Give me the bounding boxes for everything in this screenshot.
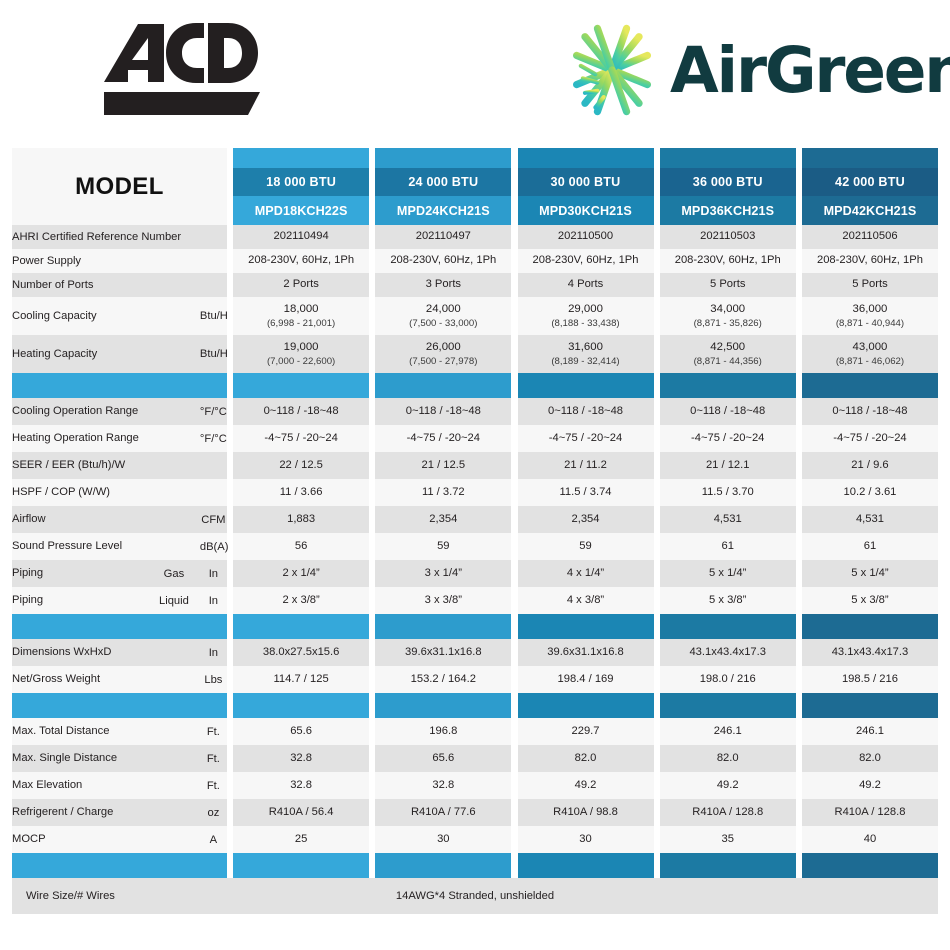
cell-16-2: 198.4 / 169 bbox=[518, 666, 654, 693]
cell-12-2: 4 x 1/4” bbox=[518, 560, 654, 587]
row-label: Piping bbox=[12, 560, 148, 587]
divider-bar-3 bbox=[660, 373, 796, 398]
cell-2-3: 5 Ports bbox=[660, 273, 796, 297]
cell-1-2: 208-230V, 60Hz, 1Ph bbox=[518, 249, 654, 273]
table-row: Cooling Operation Range°F/°C0~118 / -18~… bbox=[12, 398, 938, 425]
header-btu-1: 24 000 BTU bbox=[375, 168, 511, 196]
row-unit: dB(A) bbox=[200, 533, 227, 560]
divider-bar-0 bbox=[233, 853, 369, 878]
row-label: AHRI Certified Reference Number bbox=[12, 225, 200, 249]
row-unit: Ft. bbox=[200, 718, 227, 745]
cell-15-4: 43.1x43.4x17.3 bbox=[802, 639, 938, 666]
table-row: Dimensions WxHxDIn38.0x27.5x15.639.6x31.… bbox=[12, 639, 938, 666]
spec-table-body: MODEL18 000 BTUMPD18KCH22S24 000 BTUMPD2… bbox=[12, 148, 938, 878]
row-unit: °F/°C bbox=[200, 425, 227, 452]
header-btu-2: 30 000 BTU bbox=[518, 168, 654, 196]
cell-11-2: 59 bbox=[518, 533, 654, 560]
cell-10-2: 2,354 bbox=[518, 506, 654, 533]
row-label: Heating Capacity bbox=[12, 335, 200, 373]
cell-4-2: 31,600(8,189 - 32,414) bbox=[518, 335, 654, 373]
row-label: Cooling Operation Range bbox=[12, 398, 200, 425]
row-label: Net/Gross Weight bbox=[12, 666, 200, 693]
cell-9-0: 11 / 3.66 bbox=[233, 479, 369, 506]
cell-6-0: 0~118 / -18~48 bbox=[233, 398, 369, 425]
cell-8-4: 21 / 9.6 bbox=[802, 452, 938, 479]
cell-12-4: 5 x 1/4” bbox=[802, 560, 938, 587]
row-unit bbox=[200, 249, 227, 273]
cell-12-1: 3 x 1/4” bbox=[375, 560, 511, 587]
table-row: Max. Single DistanceFt.32.865.682.082.08… bbox=[12, 745, 938, 772]
airgreen-wordmark: AirGreen bbox=[670, 39, 950, 102]
divider-bar-4 bbox=[802, 853, 938, 878]
table-row: SEER / EER (Btu/h)/W22 / 12.521 / 12.521… bbox=[12, 452, 938, 479]
divider-bar-4 bbox=[802, 373, 938, 398]
table-row: Net/Gross WeightLbs114.7 / 125153.2 / 16… bbox=[12, 666, 938, 693]
cell-1-1: 208-230V, 60Hz, 1Ph bbox=[375, 249, 511, 273]
airgreen-logo: AirGreen bbox=[560, 18, 950, 122]
divider-bar-1 bbox=[375, 373, 511, 398]
cell-2-4: 5 Ports bbox=[802, 273, 938, 297]
row-unit bbox=[200, 479, 227, 506]
divider-unit-bar bbox=[200, 693, 227, 718]
cell-22-2: 30 bbox=[518, 826, 654, 853]
cell-range-value: (7,000 - 22,600) bbox=[233, 356, 369, 368]
row-label: Piping bbox=[12, 587, 148, 614]
row-unit: Btu/H bbox=[200, 297, 227, 335]
divider-bar-2 bbox=[518, 853, 654, 878]
cell-9-1: 11 / 3.72 bbox=[375, 479, 511, 506]
cell-main-value: 18,000 bbox=[233, 303, 369, 317]
cell-8-3: 21 / 12.1 bbox=[660, 452, 796, 479]
table-row: MOCPA2530303540 bbox=[12, 826, 938, 853]
cell-8-0: 22 / 12.5 bbox=[233, 452, 369, 479]
cell-main-value: 31,600 bbox=[518, 341, 654, 355]
wire-size-value: 14AWG*4 Stranded, unshielded bbox=[12, 878, 938, 914]
cell-11-4: 61 bbox=[802, 533, 938, 560]
cell-2-0: 2 Ports bbox=[233, 273, 369, 297]
cell-3-4: 36,000(8,871 - 40,944) bbox=[802, 297, 938, 335]
divider-bar-0 bbox=[233, 614, 369, 639]
divider-bar-3 bbox=[660, 614, 796, 639]
cell-main-value: 19,000 bbox=[233, 341, 369, 355]
cell-21-3: R410A / 128.8 bbox=[660, 799, 796, 826]
row-unit: Btu/H bbox=[200, 335, 227, 373]
cell-main-value: 29,000 bbox=[518, 303, 654, 317]
divider-bar-0 bbox=[233, 373, 369, 398]
cell-20-4: 49.2 bbox=[802, 772, 938, 799]
table-row: AHRI Certified Reference Number202110494… bbox=[12, 225, 938, 249]
cell-18-1: 196.8 bbox=[375, 718, 511, 745]
cell-range-value: (8,871 - 35,826) bbox=[660, 318, 796, 330]
cell-9-4: 10.2 / 3.61 bbox=[802, 479, 938, 506]
divider-unit-bar bbox=[200, 853, 227, 878]
cell-2-1: 3 Ports bbox=[375, 273, 511, 297]
row-unit: Ft. bbox=[200, 745, 227, 772]
section-divider-row bbox=[12, 614, 938, 639]
cell-12-0: 2 x 1/4” bbox=[233, 560, 369, 587]
cell-15-0: 38.0x27.5x15.6 bbox=[233, 639, 369, 666]
cell-6-2: 0~118 / -18~48 bbox=[518, 398, 654, 425]
header-btu-4: 42 000 BTU bbox=[802, 168, 938, 196]
header-top-strip-1 bbox=[375, 148, 511, 168]
row-label: Max. Single Distance bbox=[12, 745, 200, 772]
cell-9-3: 11.5 / 3.70 bbox=[660, 479, 796, 506]
cell-0-0: 202110494 bbox=[233, 225, 369, 249]
logo-bar: AirGreen bbox=[0, 0, 950, 140]
header-btu-0: 18 000 BTU bbox=[233, 168, 369, 196]
cell-7-0: -4~75 / -20~24 bbox=[233, 425, 369, 452]
divider-bar-2 bbox=[518, 693, 654, 718]
divider-unit-bar bbox=[200, 373, 227, 398]
table-row: PipingLiquidIn2 x 3/8”3 x 3/8”4 x 3/8”5 … bbox=[12, 587, 938, 614]
cell-0-1: 202110497 bbox=[375, 225, 511, 249]
cell-15-1: 39.6x31.1x16.8 bbox=[375, 639, 511, 666]
cell-main-value: 43,000 bbox=[802, 341, 938, 355]
cell-22-1: 30 bbox=[375, 826, 511, 853]
table-row: Refrigerent / ChargeozR410A / 56.4R410A … bbox=[12, 799, 938, 826]
header-model-1: MPD24KCH21S bbox=[375, 196, 511, 225]
cell-range-value: (6,998 - 21,001) bbox=[233, 318, 369, 330]
cell-3-3: 34,000(8,871 - 35,826) bbox=[660, 297, 796, 335]
cell-8-1: 21 / 12.5 bbox=[375, 452, 511, 479]
model-column-header-2[interactable]: 30 000 BTUMPD30KCH21S bbox=[518, 148, 654, 225]
cell-3-1: 24,000(7,500 - 33,000) bbox=[375, 297, 511, 335]
table-row: Number of Ports2 Ports3 Ports4 Ports5 Po… bbox=[12, 273, 938, 297]
cell-7-4: -4~75 / -20~24 bbox=[802, 425, 938, 452]
row-sublabel: Gas bbox=[148, 560, 200, 587]
row-unit: A bbox=[200, 826, 227, 853]
cell-18-3: 246.1 bbox=[660, 718, 796, 745]
header-top-strip-4 bbox=[802, 148, 938, 168]
cell-main-value: 26,000 bbox=[375, 341, 511, 355]
cell-19-4: 82.0 bbox=[802, 745, 938, 772]
cell-11-3: 61 bbox=[660, 533, 796, 560]
cell-22-4: 40 bbox=[802, 826, 938, 853]
header-top-strip-0 bbox=[233, 148, 369, 168]
cell-range-value: (7,500 - 33,000) bbox=[375, 318, 511, 330]
row-label: Power Supply bbox=[12, 249, 200, 273]
cell-13-0: 2 x 3/8” bbox=[233, 587, 369, 614]
table-row: Max. Total DistanceFt.65.6196.8229.7246.… bbox=[12, 718, 938, 745]
row-label: Heating Operation Range bbox=[12, 425, 200, 452]
cell-4-3: 42,500(8,871 - 44,356) bbox=[660, 335, 796, 373]
row-label: Cooling Capacity bbox=[12, 297, 200, 335]
cell-11-1: 59 bbox=[375, 533, 511, 560]
table-row: Power Supply208-230V, 60Hz, 1Ph208-230V,… bbox=[12, 249, 938, 273]
row-unit: In bbox=[200, 560, 227, 587]
model-column-header-3[interactable]: 36 000 BTUMPD36KCH21S bbox=[660, 148, 796, 225]
cell-6-3: 0~118 / -18~48 bbox=[660, 398, 796, 425]
model-column-header-4[interactable]: 42 000 BTUMPD42KCH21S bbox=[802, 148, 938, 225]
header-model-0: MPD18KCH22S bbox=[233, 196, 369, 225]
cell-7-1: -4~75 / -20~24 bbox=[375, 425, 511, 452]
row-label: Max. Total Distance bbox=[12, 718, 200, 745]
table-row: Heating Operation Range°F/°C-4~75 / -20~… bbox=[12, 425, 938, 452]
cell-3-0: 18,000(6,998 - 21,001) bbox=[233, 297, 369, 335]
cell-20-3: 49.2 bbox=[660, 772, 796, 799]
cell-10-1: 2,354 bbox=[375, 506, 511, 533]
cell-22-0: 25 bbox=[233, 826, 369, 853]
cell-0-3: 202110503 bbox=[660, 225, 796, 249]
divider-bar-2 bbox=[518, 614, 654, 639]
row-unit bbox=[200, 273, 227, 297]
divider-bar-1 bbox=[375, 853, 511, 878]
cell-13-4: 5 x 3/8” bbox=[802, 587, 938, 614]
spec-sheet-page: AirGreen MODEL18 000 BTUMPD18KCH22S24 00… bbox=[0, 0, 950, 950]
cell-range-value: (8,871 - 40,944) bbox=[802, 318, 938, 330]
table-header-row: MODEL18 000 BTUMPD18KCH22S24 000 BTUMPD2… bbox=[12, 148, 938, 225]
row-unit: Ft. bbox=[200, 772, 227, 799]
cell-19-0: 32.8 bbox=[233, 745, 369, 772]
row-unit: Lbs bbox=[200, 666, 227, 693]
row-unit bbox=[200, 452, 227, 479]
table-row: Heating CapacityBtu/H19,000(7,000 - 22,6… bbox=[12, 335, 938, 373]
divider-label-bar bbox=[12, 373, 200, 398]
cell-10-4: 4,531 bbox=[802, 506, 938, 533]
cell-18-0: 65.6 bbox=[233, 718, 369, 745]
cell-10-3: 4,531 bbox=[660, 506, 796, 533]
cell-16-1: 153.2 / 164.2 bbox=[375, 666, 511, 693]
cell-4-4: 43,000(8,871 - 46,062) bbox=[802, 335, 938, 373]
cell-15-3: 43.1x43.4x17.3 bbox=[660, 639, 796, 666]
row-sublabel: Liquid bbox=[148, 587, 200, 614]
cell-range-value: (8,188 - 33,438) bbox=[518, 318, 654, 330]
row-unit: °F/°C bbox=[200, 398, 227, 425]
cell-0-4: 202110506 bbox=[802, 225, 938, 249]
divider-bar-3 bbox=[660, 693, 796, 718]
cell-4-0: 19,000(7,000 - 22,600) bbox=[233, 335, 369, 373]
cell-18-2: 229.7 bbox=[518, 718, 654, 745]
cell-20-2: 49.2 bbox=[518, 772, 654, 799]
cell-6-1: 0~118 / -18~48 bbox=[375, 398, 511, 425]
divider-bar-1 bbox=[375, 693, 511, 718]
cell-15-2: 39.6x31.1x16.8 bbox=[518, 639, 654, 666]
cell-range-value: (7,500 - 27,978) bbox=[375, 356, 511, 368]
divider-bar-4 bbox=[802, 614, 938, 639]
row-label: Max Elevation bbox=[12, 772, 200, 799]
header-btu-3: 36 000 BTU bbox=[660, 168, 796, 196]
acd-logo bbox=[92, 20, 272, 120]
divider-bar-4 bbox=[802, 693, 938, 718]
table-row: AirflowCFM1,8832,3542,3544,5314,531 bbox=[12, 506, 938, 533]
section-divider-row bbox=[12, 693, 938, 718]
divider-bar-2 bbox=[518, 373, 654, 398]
header-top-strip-3 bbox=[660, 148, 796, 168]
cell-range-value: (8,871 - 44,356) bbox=[660, 356, 796, 368]
header-top-strip-2 bbox=[518, 148, 654, 168]
cell-19-3: 82.0 bbox=[660, 745, 796, 772]
wire-size-row: Wire Size/# Wires 14AWG*4 Stranded, unsh… bbox=[12, 878, 938, 914]
cell-range-value: (8,871 - 46,062) bbox=[802, 356, 938, 368]
row-unit: In bbox=[200, 639, 227, 666]
cell-13-3: 5 x 3/8” bbox=[660, 587, 796, 614]
model-header-cell: MODEL bbox=[12, 148, 227, 225]
cell-20-0: 32.8 bbox=[233, 772, 369, 799]
table-row: Sound Pressure LeveldB(A)5659596161 bbox=[12, 533, 938, 560]
section-divider-row bbox=[12, 853, 938, 878]
divider-label-bar bbox=[12, 693, 200, 718]
cell-13-2: 4 x 3/8” bbox=[518, 587, 654, 614]
row-unit bbox=[200, 225, 227, 249]
cell-21-1: R410A / 77.6 bbox=[375, 799, 511, 826]
cell-18-4: 246.1 bbox=[802, 718, 938, 745]
divider-unit-bar bbox=[200, 614, 227, 639]
cell-7-3: -4~75 / -20~24 bbox=[660, 425, 796, 452]
row-label: Number of Ports bbox=[12, 273, 200, 297]
row-unit: oz bbox=[200, 799, 227, 826]
cell-22-3: 35 bbox=[660, 826, 796, 853]
cell-16-3: 198.0 / 216 bbox=[660, 666, 796, 693]
cell-16-0: 114.7 / 125 bbox=[233, 666, 369, 693]
divider-bar-1 bbox=[375, 614, 511, 639]
divider-bar-0 bbox=[233, 693, 369, 718]
cell-21-4: R410A / 128.8 bbox=[802, 799, 938, 826]
model-column-header-1[interactable]: 24 000 BTUMPD24KCH21S bbox=[375, 148, 511, 225]
row-label: Sound Pressure Level bbox=[12, 533, 200, 560]
cell-20-1: 32.8 bbox=[375, 772, 511, 799]
cell-6-4: 0~118 / -18~48 bbox=[802, 398, 938, 425]
cell-8-2: 21 / 11.2 bbox=[518, 452, 654, 479]
table-row: Cooling CapacityBtu/H18,000(6,998 - 21,0… bbox=[12, 297, 938, 335]
table-row: Max ElevationFt.32.832.849.249.249.2 bbox=[12, 772, 938, 799]
cell-main-value: 34,000 bbox=[660, 303, 796, 317]
header-model-3: MPD36KCH21S bbox=[660, 196, 796, 225]
cell-0-2: 202110500 bbox=[518, 225, 654, 249]
cell-9-2: 11.5 / 3.74 bbox=[518, 479, 654, 506]
divider-bar-3 bbox=[660, 853, 796, 878]
row-label: MOCP bbox=[12, 826, 200, 853]
cell-7-2: -4~75 / -20~24 bbox=[518, 425, 654, 452]
row-unit: CFM bbox=[200, 506, 227, 533]
divider-label-bar bbox=[12, 853, 200, 878]
specification-table: MODEL18 000 BTUMPD18KCH22S24 000 BTUMPD2… bbox=[12, 148, 938, 914]
cell-2-2: 4 Ports bbox=[518, 273, 654, 297]
table-row: HSPF / COP (W/W)11 / 3.6611 / 3.7211.5 /… bbox=[12, 479, 938, 506]
cell-range-value: (8,189 - 32,414) bbox=[518, 356, 654, 368]
table-row: PipingGasIn2 x 1/4”3 x 1/4”4 x 1/4”5 x 1… bbox=[12, 560, 938, 587]
cell-4-1: 26,000(7,500 - 27,978) bbox=[375, 335, 511, 373]
row-label: HSPF / COP (W/W) bbox=[12, 479, 200, 506]
row-label: Airflow bbox=[12, 506, 200, 533]
cell-21-0: R410A / 56.4 bbox=[233, 799, 369, 826]
cell-11-0: 56 bbox=[233, 533, 369, 560]
cell-main-value: 36,000 bbox=[802, 303, 938, 317]
cell-12-3: 5 x 1/4” bbox=[660, 560, 796, 587]
section-divider-row bbox=[12, 373, 938, 398]
cell-13-1: 3 x 3/8” bbox=[375, 587, 511, 614]
row-label: Dimensions WxHxD bbox=[12, 639, 200, 666]
header-model-4: MPD42KCH21S bbox=[802, 196, 938, 225]
row-label: SEER / EER (Btu/h)/W bbox=[12, 452, 200, 479]
row-label: Refrigerent / Charge bbox=[12, 799, 200, 826]
divider-label-bar bbox=[12, 614, 200, 639]
header-model-2: MPD30KCH21S bbox=[518, 196, 654, 225]
cell-1-4: 208-230V, 60Hz, 1Ph bbox=[802, 249, 938, 273]
cell-3-2: 29,000(8,188 - 33,438) bbox=[518, 297, 654, 335]
row-unit: In bbox=[200, 587, 227, 614]
spec-table: MODEL18 000 BTUMPD18KCH22S24 000 BTUMPD2… bbox=[12, 148, 938, 878]
cell-16-4: 198.5 / 216 bbox=[802, 666, 938, 693]
cell-21-2: R410A / 98.8 bbox=[518, 799, 654, 826]
cell-1-3: 208-230V, 60Hz, 1Ph bbox=[660, 249, 796, 273]
cell-main-value: 42,500 bbox=[660, 341, 796, 355]
cell-1-0: 208-230V, 60Hz, 1Ph bbox=[233, 249, 369, 273]
cell-main-value: 24,000 bbox=[375, 303, 511, 317]
cell-19-1: 65.6 bbox=[375, 745, 511, 772]
cell-10-0: 1,883 bbox=[233, 506, 369, 533]
cell-19-2: 82.0 bbox=[518, 745, 654, 772]
airgreen-snowflake-icon bbox=[560, 18, 664, 122]
model-column-header-0[interactable]: 18 000 BTUMPD18KCH22S bbox=[233, 148, 369, 225]
